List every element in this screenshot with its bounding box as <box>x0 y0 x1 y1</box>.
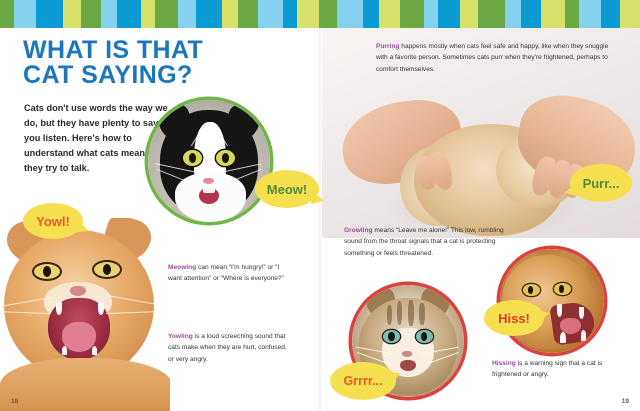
speech-bubble-grrr-label: Grrrr... <box>344 375 383 388</box>
grrr-pupil-right <box>421 332 427 341</box>
banner-stripe <box>460 0 478 28</box>
striped-banner <box>0 0 640 28</box>
banner-stripe <box>196 0 222 28</box>
banner-stripe <box>222 0 238 28</box>
banner-stripe <box>63 0 81 28</box>
banner-stripe <box>283 0 297 28</box>
banner-stripe <box>579 0 601 28</box>
page-title-line-2: CAT SAYING? <box>23 63 313 88</box>
banner-stripe <box>601 0 619 28</box>
banner-stripe <box>238 0 258 28</box>
yowl-nose <box>70 286 86 296</box>
hiss-fang-upper-right <box>579 307 584 318</box>
yowl-tooth-lower-left <box>62 346 67 355</box>
caption-growling-term: Growling <box>344 227 373 234</box>
photo-meowing-cat-inner <box>148 100 270 222</box>
banner-stripe <box>363 0 379 28</box>
banner-stripe <box>178 0 196 28</box>
grrr-stripe-2 <box>408 300 414 327</box>
hiss-fang-lower-right <box>581 330 586 340</box>
page-title: WHAT IS THAT CAT SAYING? <box>23 38 313 87</box>
grrr-pupil-left <box>388 332 394 341</box>
banner-stripe <box>565 0 579 28</box>
speech-bubble-meow: Meow! <box>255 170 319 208</box>
caption-meowing: Meowing can mean “I'm hungry!” or “I wan… <box>168 262 290 285</box>
speech-bubble-hiss-tail <box>536 308 551 323</box>
caption-purring: Purring happens mostly when cats feel sa… <box>376 41 616 75</box>
caption-yowling-term: Yowling <box>168 333 193 340</box>
banner-stripe <box>478 0 504 28</box>
banner-stripe <box>620 0 640 28</box>
banner-stripe <box>155 0 177 28</box>
banner-stripe <box>81 0 101 28</box>
caption-purring-term: Purring <box>376 43 399 50</box>
yowl-body <box>0 358 170 411</box>
caption-growling: Growling means “Leave me alone!” This lo… <box>344 225 514 259</box>
banner-stripe <box>141 0 155 28</box>
speech-bubble-purr-label: Purr... <box>583 177 620 190</box>
magazine-spread: WHAT IS THAT CAT SAYING? Cats don't use … <box>0 0 640 411</box>
meow-pupil-left <box>189 153 196 163</box>
banner-stripe <box>438 0 460 28</box>
yowl-tooth-lower-right <box>92 346 97 355</box>
speech-bubble-yowl: Yowl! <box>23 203 83 239</box>
caption-meowing-term: Meowing <box>168 264 196 271</box>
speech-bubble-meow-label: Meow! <box>267 183 307 196</box>
caption-hissing: Hissing is a warning sign that a cat is … <box>492 358 624 381</box>
banner-stripe <box>36 0 62 28</box>
caption-purring-body: happens mostly when cats feel safe and h… <box>376 43 608 73</box>
speech-bubble-hiss-label: Hiss! <box>498 312 530 325</box>
yowl-pupil-left <box>43 266 51 277</box>
banner-stripe <box>424 0 438 28</box>
banner-stripe <box>337 0 363 28</box>
banner-stripe <box>521 0 541 28</box>
page-number-left: 18 <box>11 398 18 405</box>
yowl-pupil-right <box>103 264 111 275</box>
banner-stripe <box>14 0 36 28</box>
caption-yowling: Yowling is a loud screeching sound that … <box>168 331 290 365</box>
yowl-tongue <box>62 322 96 352</box>
banner-stripe <box>400 0 424 28</box>
yowl-fang-right <box>98 302 104 315</box>
banner-stripe <box>541 0 565 28</box>
page-title-line-1: WHAT IS THAT <box>23 36 203 64</box>
banner-stripe <box>319 0 337 28</box>
caption-hissing-term: Hissing <box>492 360 516 367</box>
speech-bubble-grrr: Grrrr... <box>330 362 396 400</box>
photo-meowing-cat <box>148 100 270 222</box>
speech-bubble-yowl-label: Yowl! <box>36 215 70 228</box>
speech-bubble-hiss: Hiss! <box>484 300 544 336</box>
banner-stripe <box>379 0 399 28</box>
grrr-nose <box>402 351 412 357</box>
hiss-fang-lower-left <box>560 332 565 342</box>
meow-teeth <box>203 188 215 192</box>
photo-yowling-cat <box>0 218 170 411</box>
grrr-stripe-3 <box>419 303 425 325</box>
page-number-right: 19 <box>622 398 629 405</box>
banner-stripe <box>0 0 14 28</box>
banner-stripe <box>101 0 117 28</box>
banner-stripe <box>258 0 282 28</box>
yowl-fang-left <box>56 302 62 315</box>
banner-stripe <box>117 0 141 28</box>
banner-stripe <box>297 0 319 28</box>
speech-bubble-purr: Purr... <box>570 164 632 202</box>
banner-stripe <box>505 0 521 28</box>
meow-pupil-right <box>222 153 229 163</box>
